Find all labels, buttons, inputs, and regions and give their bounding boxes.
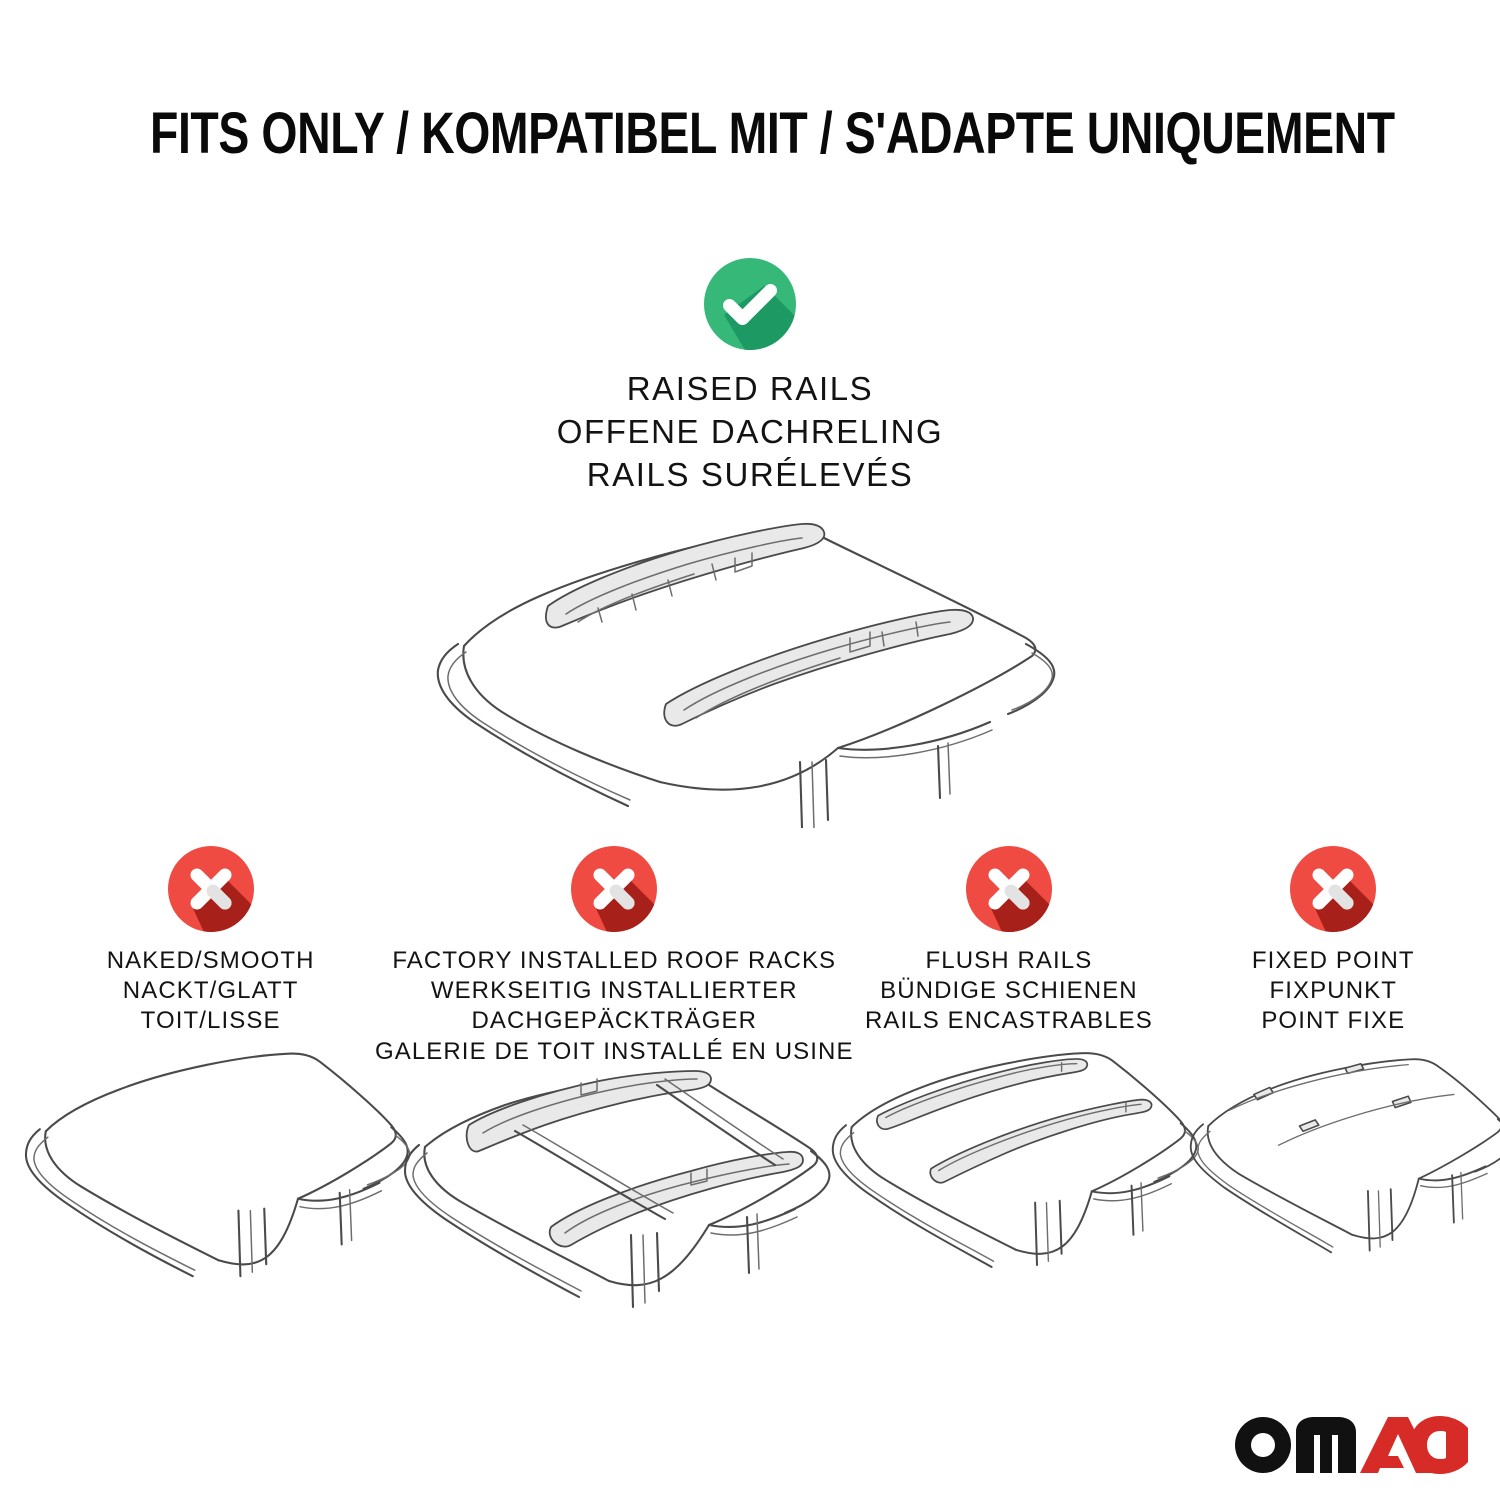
caption-line-en: NAKED/SMOOTH: [107, 946, 315, 976]
caption-line-fr: POINT FIXE: [1252, 1006, 1415, 1036]
rejected-caption: NAKED/SMOOTH NACKT/GLATT TOIT/LISSE: [107, 946, 315, 1037]
rejected-item-flush-rails: FLUSH RAILS BÜNDIGE SCHIENEN RAILS ENCAS…: [829, 846, 1188, 1277]
caption-line-de-1: WERKSEITIG INSTALLIERTER: [375, 976, 854, 1006]
x-circle-icon: [571, 846, 657, 932]
compatibility-infographic: FITS ONLY / KOMPATIBEL MIT / S'ADAPTE UN…: [0, 0, 1500, 1500]
rejected-caption: FACTORY INSTALLED ROOF RACKS WERKSEITIG …: [375, 946, 854, 1067]
car-roof-factory-racks-illustration: [399, 1077, 829, 1307]
rejected-item-fixed-point: FIXED POINT FIXPUNKT POINT FIXE: [1189, 846, 1478, 1277]
approved-line-de: OFFENE DACHRELING: [0, 411, 1500, 454]
rejected-caption: FLUSH RAILS BÜNDIGE SCHIENEN RAILS ENCAS…: [865, 946, 1153, 1037]
rejected-row: NAKED/SMOOTH NACKT/GLATT TOIT/LISSE: [0, 846, 1500, 1307]
approved-line-fr: RAILS SURÉLEVÉS: [0, 454, 1500, 497]
caption-line-de: FIXPUNKT: [1252, 976, 1415, 1006]
page-title: FITS ONLY / KOMPATIBEL MIT / S'ADAPTE UN…: [150, 104, 1350, 165]
x-circle-icon: [966, 846, 1052, 932]
caption-line-fr: GALERIE DE TOIT INSTALLÉ EN USINE: [375, 1037, 854, 1067]
car-roof-fixed-point-illustration: [1189, 1047, 1478, 1277]
omac-logo: [1232, 1414, 1468, 1476]
approved-section: RAISED RAILS OFFENE DACHRELING RAILS SUR…: [0, 258, 1500, 497]
caption-line-de: NACKT/GLATT: [107, 976, 315, 1006]
caption-line-en: FLUSH RAILS: [865, 946, 1153, 976]
rejected-caption: FIXED POINT FIXPUNKT POINT FIXE: [1252, 946, 1415, 1037]
approved-caption: RAISED RAILS OFFENE DACHRELING RAILS SUR…: [0, 368, 1500, 497]
x-circle-icon: [1290, 846, 1376, 932]
caption-line-de-2: DACHGEPÄCKTRÄGER: [375, 1006, 854, 1036]
car-roof-raised-rails-illustration: [430, 498, 1090, 828]
rejected-item-factory-racks: FACTORY INSTALLED ROOF RACKS WERKSEITIG …: [399, 846, 829, 1307]
x-circle-icon: [168, 846, 254, 932]
caption-line-fr: TOIT/LISSE: [107, 1006, 315, 1036]
rejected-item-naked-smooth: NAKED/SMOOTH NACKT/GLATT TOIT/LISSE: [22, 846, 399, 1277]
caption-line-de: BÜNDIGE SCHIENEN: [865, 976, 1153, 1006]
car-roof-flush-rails-illustration: [829, 1047, 1188, 1277]
caption-line-en: FIXED POINT: [1252, 946, 1415, 976]
caption-line-fr: RAILS ENCASTRABLES: [865, 1006, 1153, 1036]
car-roof-naked-illustration: [22, 1047, 399, 1277]
caption-line-en: FACTORY INSTALLED ROOF RACKS: [375, 946, 854, 976]
approved-line-en: RAISED RAILS: [0, 368, 1500, 411]
check-circle-icon: [704, 258, 796, 350]
